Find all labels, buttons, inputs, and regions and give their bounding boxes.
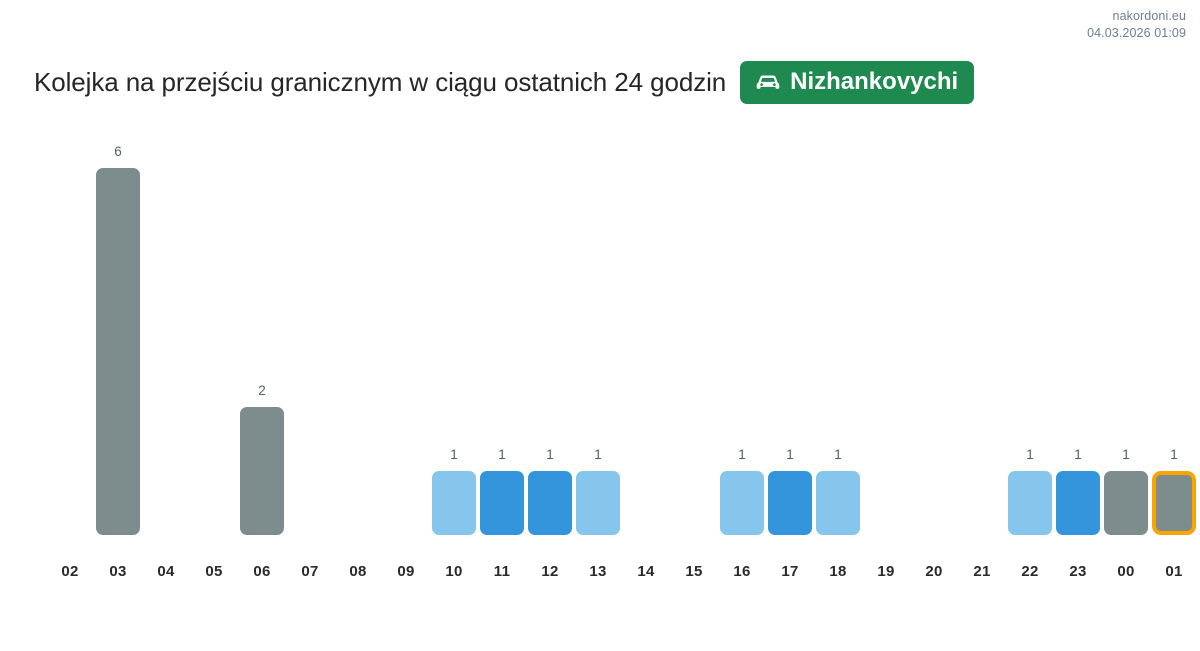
x-axis-tick: 11 — [478, 563, 526, 580]
x-axis-tick: 14 — [622, 563, 670, 580]
bar-slot[interactable] — [670, 120, 718, 535]
bar-chart: 6211111111111 02030405060708091011121314… — [0, 120, 1200, 620]
bar[interactable] — [96, 168, 140, 535]
x-axis-tick: 16 — [718, 563, 766, 580]
bar-slot[interactable] — [910, 120, 958, 535]
bar-value-label: 1 — [1170, 448, 1178, 462]
bar-slot[interactable]: 1 — [430, 120, 478, 535]
bar-slot[interactable]: 6 — [94, 120, 142, 535]
x-axis: 0203040506070809101112131415161718192021… — [46, 563, 1194, 593]
bar[interactable] — [240, 407, 284, 535]
x-axis-tick: 21 — [958, 563, 1006, 580]
car-icon — [755, 72, 781, 92]
x-axis-tick: 01 — [1150, 563, 1198, 580]
generated-timestamp: 04.03.2026 01:09 — [1087, 25, 1186, 42]
bar-value-label: 1 — [1122, 448, 1130, 462]
bar-group: 1 — [528, 448, 572, 536]
bar-slot[interactable]: 1 — [574, 120, 622, 535]
bar[interactable] — [1056, 471, 1100, 535]
x-axis-tick: 15 — [670, 563, 718, 580]
bar-slot[interactable] — [286, 120, 334, 535]
x-axis-tick: 02 — [46, 563, 94, 580]
bar-slot[interactable] — [46, 120, 94, 535]
x-axis-tick: 18 — [814, 563, 862, 580]
bar-group: 1 — [576, 448, 620, 536]
bar-group: 1 — [1104, 448, 1148, 536]
bar-slot[interactable]: 1 — [1102, 120, 1150, 535]
bar-group: 1 — [1056, 448, 1100, 536]
bar-value-label: 1 — [738, 448, 746, 462]
bar-slot[interactable]: 1 — [1150, 120, 1198, 535]
bar[interactable] — [768, 471, 812, 535]
bar-slot[interactable] — [382, 120, 430, 535]
bar-value-label: 1 — [498, 448, 506, 462]
bar-group: 1 — [1152, 448, 1196, 536]
bar[interactable] — [1104, 471, 1148, 535]
chart-header: Kolejka na przejściu granicznym w ciągu … — [34, 61, 1180, 104]
bar-group: 2 — [240, 384, 284, 536]
bar-slot[interactable]: 1 — [1006, 120, 1054, 535]
bar-group: 1 — [432, 448, 476, 536]
bar-slot[interactable]: 1 — [814, 120, 862, 535]
bar[interactable] — [720, 471, 764, 535]
watermark-meta: nakordoni.eu 04.03.2026 01:09 — [1087, 8, 1186, 42]
bar-value-label: 1 — [594, 448, 602, 462]
badge-label: Nizhankovychi — [790, 70, 958, 94]
x-axis-tick: 10 — [430, 563, 478, 580]
x-axis-tick: 06 — [238, 563, 286, 580]
bar-value-label: 6 — [114, 145, 122, 159]
x-axis-tick: 17 — [766, 563, 814, 580]
bar-slot[interactable]: 1 — [526, 120, 574, 535]
x-axis-tick: 20 — [910, 563, 958, 580]
bar-value-label: 1 — [1026, 448, 1034, 462]
x-axis-tick: 22 — [1006, 563, 1054, 580]
bar-slot[interactable] — [142, 120, 190, 535]
bar-slot[interactable] — [862, 120, 910, 535]
bar-group: 6 — [96, 145, 140, 536]
bar-slot[interactable] — [958, 120, 1006, 535]
x-axis-tick: 09 — [382, 563, 430, 580]
page-title: Kolejka na przejściu granicznym w ciągu … — [34, 67, 726, 98]
border-crossing-badge[interactable]: Nizhankovychi — [740, 61, 974, 104]
x-axis-tick: 00 — [1102, 563, 1150, 580]
bar-value-label: 1 — [546, 448, 554, 462]
plot-area: 6211111111111 — [46, 120, 1194, 535]
x-axis-tick: 13 — [574, 563, 622, 580]
bar-value-label: 1 — [786, 448, 794, 462]
x-axis-tick: 07 — [286, 563, 334, 580]
x-axis-tick: 19 — [862, 563, 910, 580]
bar-slot[interactable]: 1 — [766, 120, 814, 535]
x-axis-tick: 23 — [1054, 563, 1102, 580]
bar-group: 1 — [1008, 448, 1052, 536]
bar-group: 1 — [816, 448, 860, 536]
bar-slot[interactable]: 2 — [238, 120, 286, 535]
bar-slot[interactable] — [334, 120, 382, 535]
bar-slot[interactable] — [190, 120, 238, 535]
x-axis-tick: 12 — [526, 563, 574, 580]
bar[interactable] — [480, 471, 524, 535]
bar-value-label: 1 — [834, 448, 842, 462]
bar[interactable] — [816, 471, 860, 535]
bar-slot[interactable]: 1 — [478, 120, 526, 535]
bar[interactable] — [1008, 471, 1052, 535]
bar[interactable] — [432, 471, 476, 535]
x-axis-tick: 05 — [190, 563, 238, 580]
x-axis-tick: 04 — [142, 563, 190, 580]
bar-slot[interactable]: 1 — [1054, 120, 1102, 535]
bar[interactable] — [1152, 471, 1196, 535]
bar-slot[interactable]: 1 — [718, 120, 766, 535]
x-axis-tick: 08 — [334, 563, 382, 580]
bar[interactable] — [528, 471, 572, 535]
bar-slot[interactable] — [622, 120, 670, 535]
bar[interactable] — [576, 471, 620, 535]
x-axis-tick: 03 — [94, 563, 142, 580]
bar-value-label: 2 — [258, 384, 266, 398]
site-name: nakordoni.eu — [1087, 8, 1186, 25]
bar-group: 1 — [720, 448, 764, 536]
bar-group: 1 — [480, 448, 524, 536]
bar-value-label: 1 — [1074, 448, 1082, 462]
bar-value-label: 1 — [450, 448, 458, 462]
bar-group: 1 — [768, 448, 812, 536]
